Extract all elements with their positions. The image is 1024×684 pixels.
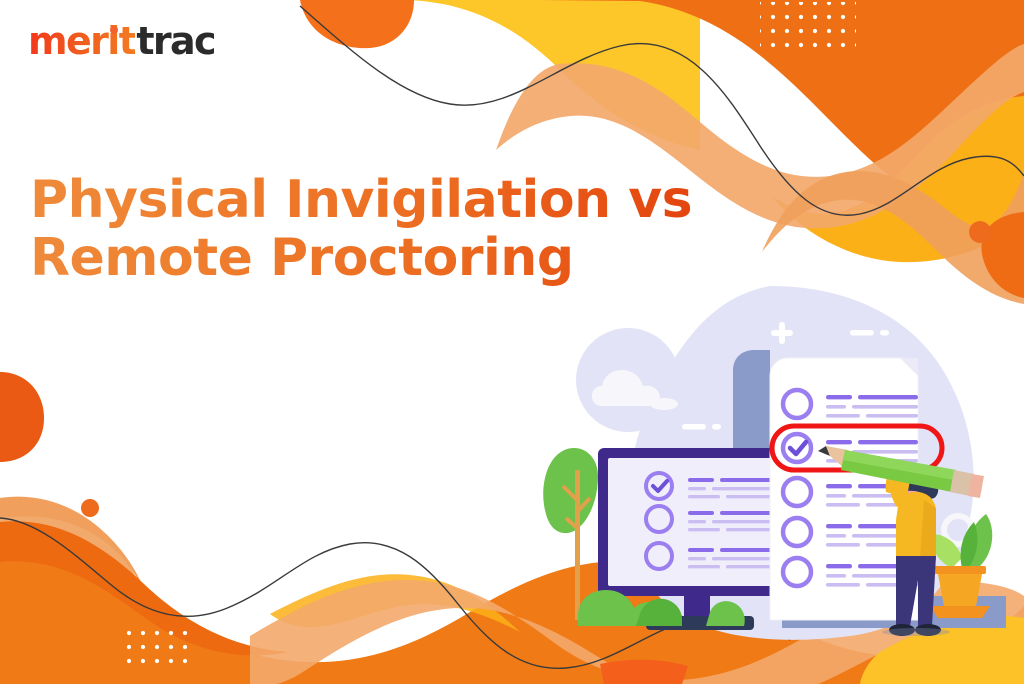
plant-pot-rim — [934, 566, 986, 574]
plant-pot — [938, 574, 982, 606]
tree-trunk — [575, 470, 580, 620]
logo-text-trac: trac — [136, 22, 215, 60]
person-shadow — [882, 628, 950, 636]
page-title-line-2: Remote Proctoring — [30, 229, 790, 287]
dash-icon-top — [850, 330, 889, 336]
poster-canvas: merit trac Physical Invigilation vs Remo… — [0, 0, 1024, 684]
logo-dot-icon — [110, 26, 118, 34]
monitor-stand-neck — [684, 596, 710, 618]
dash-icon-mid — [682, 424, 721, 430]
logo-text-merit: merit — [28, 22, 135, 60]
monitor-neck — [733, 350, 770, 452]
page-title: Physical Invigilation vs Remote Proctori… — [30, 171, 790, 287]
plant-pot-base — [930, 606, 990, 618]
illustration-layer — [0, 0, 1024, 684]
page-title-line-1: Physical Invigilation vs — [30, 171, 790, 229]
brand-logo[interactable]: merit trac — [28, 22, 215, 60]
